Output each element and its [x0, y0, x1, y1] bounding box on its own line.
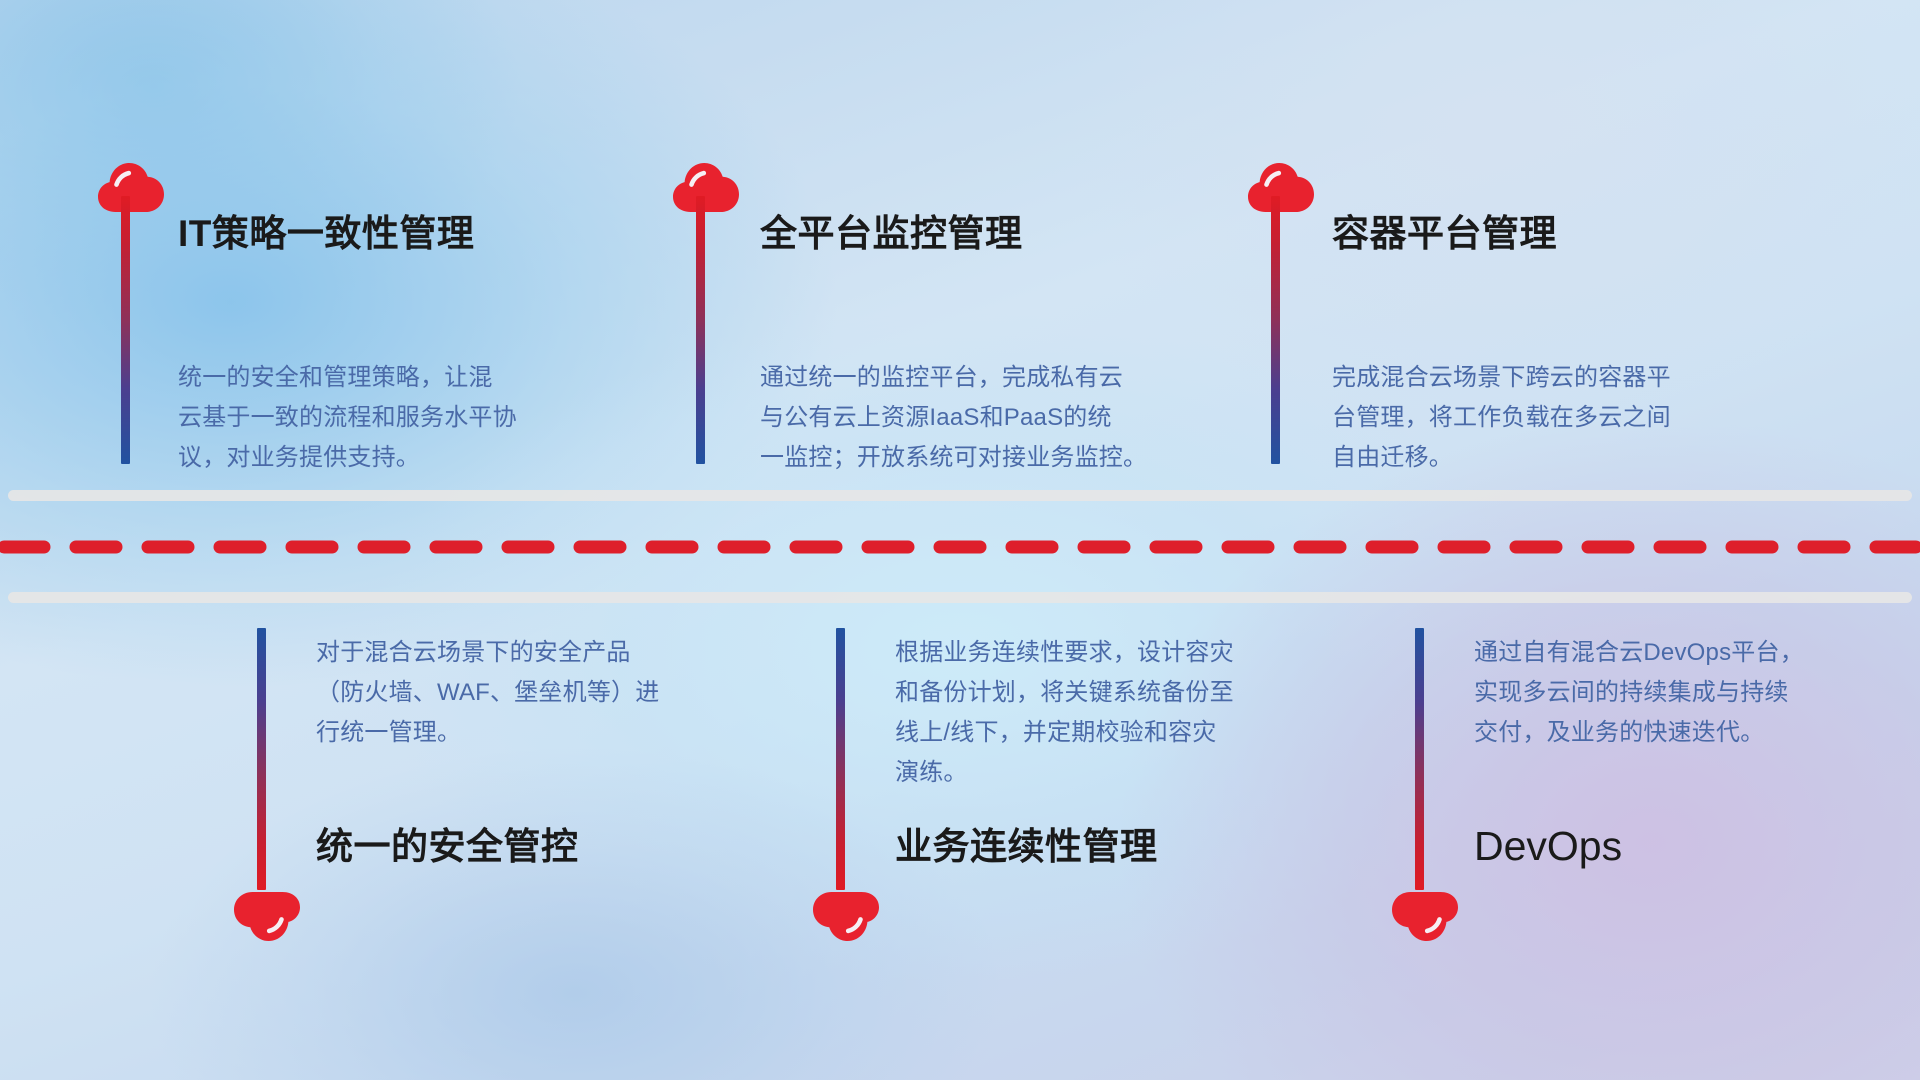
cloud-icon — [1245, 158, 1317, 214]
divider-rail-bottom — [8, 592, 1912, 603]
connector-stem — [836, 628, 845, 890]
cloud-icon — [231, 890, 303, 946]
bottom-item-heading: DevOps — [1474, 822, 1622, 871]
infographic-canvas: IT策略一致性管理 统一的安全和管理策略，让混 云基于一致的流程和服务水平协 议… — [0, 0, 1920, 1080]
bottom-item-body: 根据业务连续性要求，设计容灾 和备份计划，将关键系统备份至 线上/线下，并定期校… — [895, 633, 1325, 793]
cloud-icon — [1389, 890, 1461, 946]
connector-stem — [696, 196, 705, 464]
connector-stem — [121, 196, 130, 464]
connector-stem — [1415, 628, 1424, 890]
connector-stem — [1271, 196, 1280, 464]
divider-dashes — [0, 540, 1920, 554]
top-item-body: 通过统一的监控平台，完成私有云 与公有云上资源IaaS和PaaS的统 一监控；开… — [760, 358, 1200, 478]
top-item-heading: 全平台监控管理 — [760, 212, 1023, 256]
cloud-icon — [670, 158, 742, 214]
bottom-item-heading: 统一的安全管控 — [316, 825, 579, 869]
bottom-item-body: 对于混合云场景下的安全产品 （防火墙、WAF、堡垒机等）进 行统一管理。 — [316, 633, 746, 753]
bottom-item-heading: 业务连续性管理 — [895, 825, 1158, 869]
top-item-body: 完成混合云场景下跨云的容器平 台管理，将工作负载在多云之间 自由迁移。 — [1332, 358, 1772, 478]
top-item-heading: 容器平台管理 — [1332, 212, 1557, 256]
top-item-heading: IT策略一致性管理 — [178, 212, 474, 256]
cloud-icon — [95, 158, 167, 214]
bottom-item-body: 通过自有混合云DevOps平台， 实现多云间的持续集成与持续 交付，及业务的快速… — [1474, 633, 1904, 753]
cloud-icon — [810, 890, 882, 946]
divider-rail-top — [8, 490, 1912, 501]
connector-stem — [257, 628, 266, 890]
top-item-body: 统一的安全和管理策略，让混 云基于一致的流程和服务水平协 议，对业务提供支持。 — [178, 358, 608, 478]
